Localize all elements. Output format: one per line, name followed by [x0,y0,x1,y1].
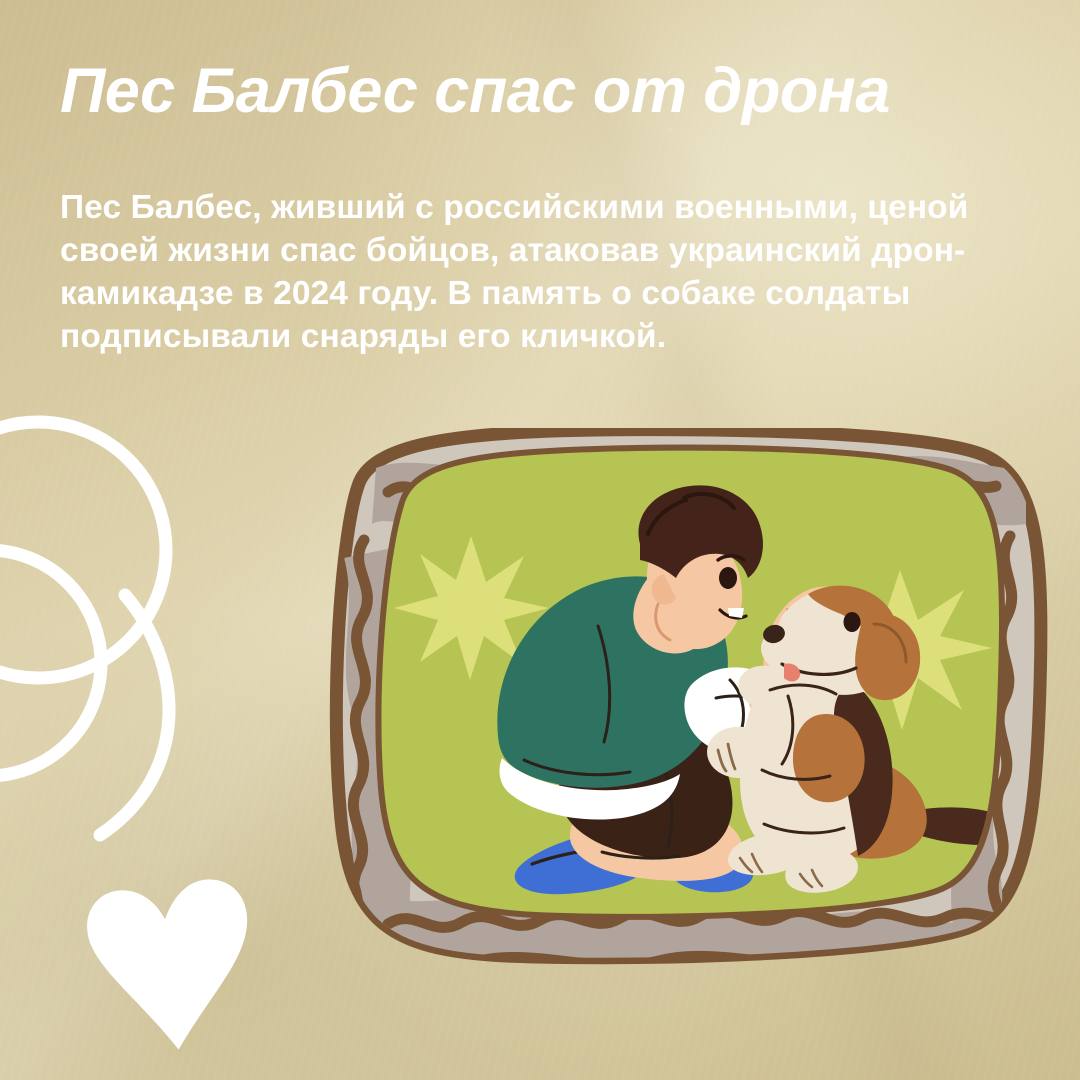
page-title: Пес Балбес спас от дрона [60,58,1040,124]
heart-icon [78,872,263,1054]
poster-canvas: Пес Балбес спас от дрона Пес Балбес, жив… [0,0,1080,1080]
illustration-man-and-dog [296,428,1056,968]
body-paragraph: Пес Балбес, живший с российскими военным… [60,186,1035,358]
decorative-circles [0,415,290,865]
